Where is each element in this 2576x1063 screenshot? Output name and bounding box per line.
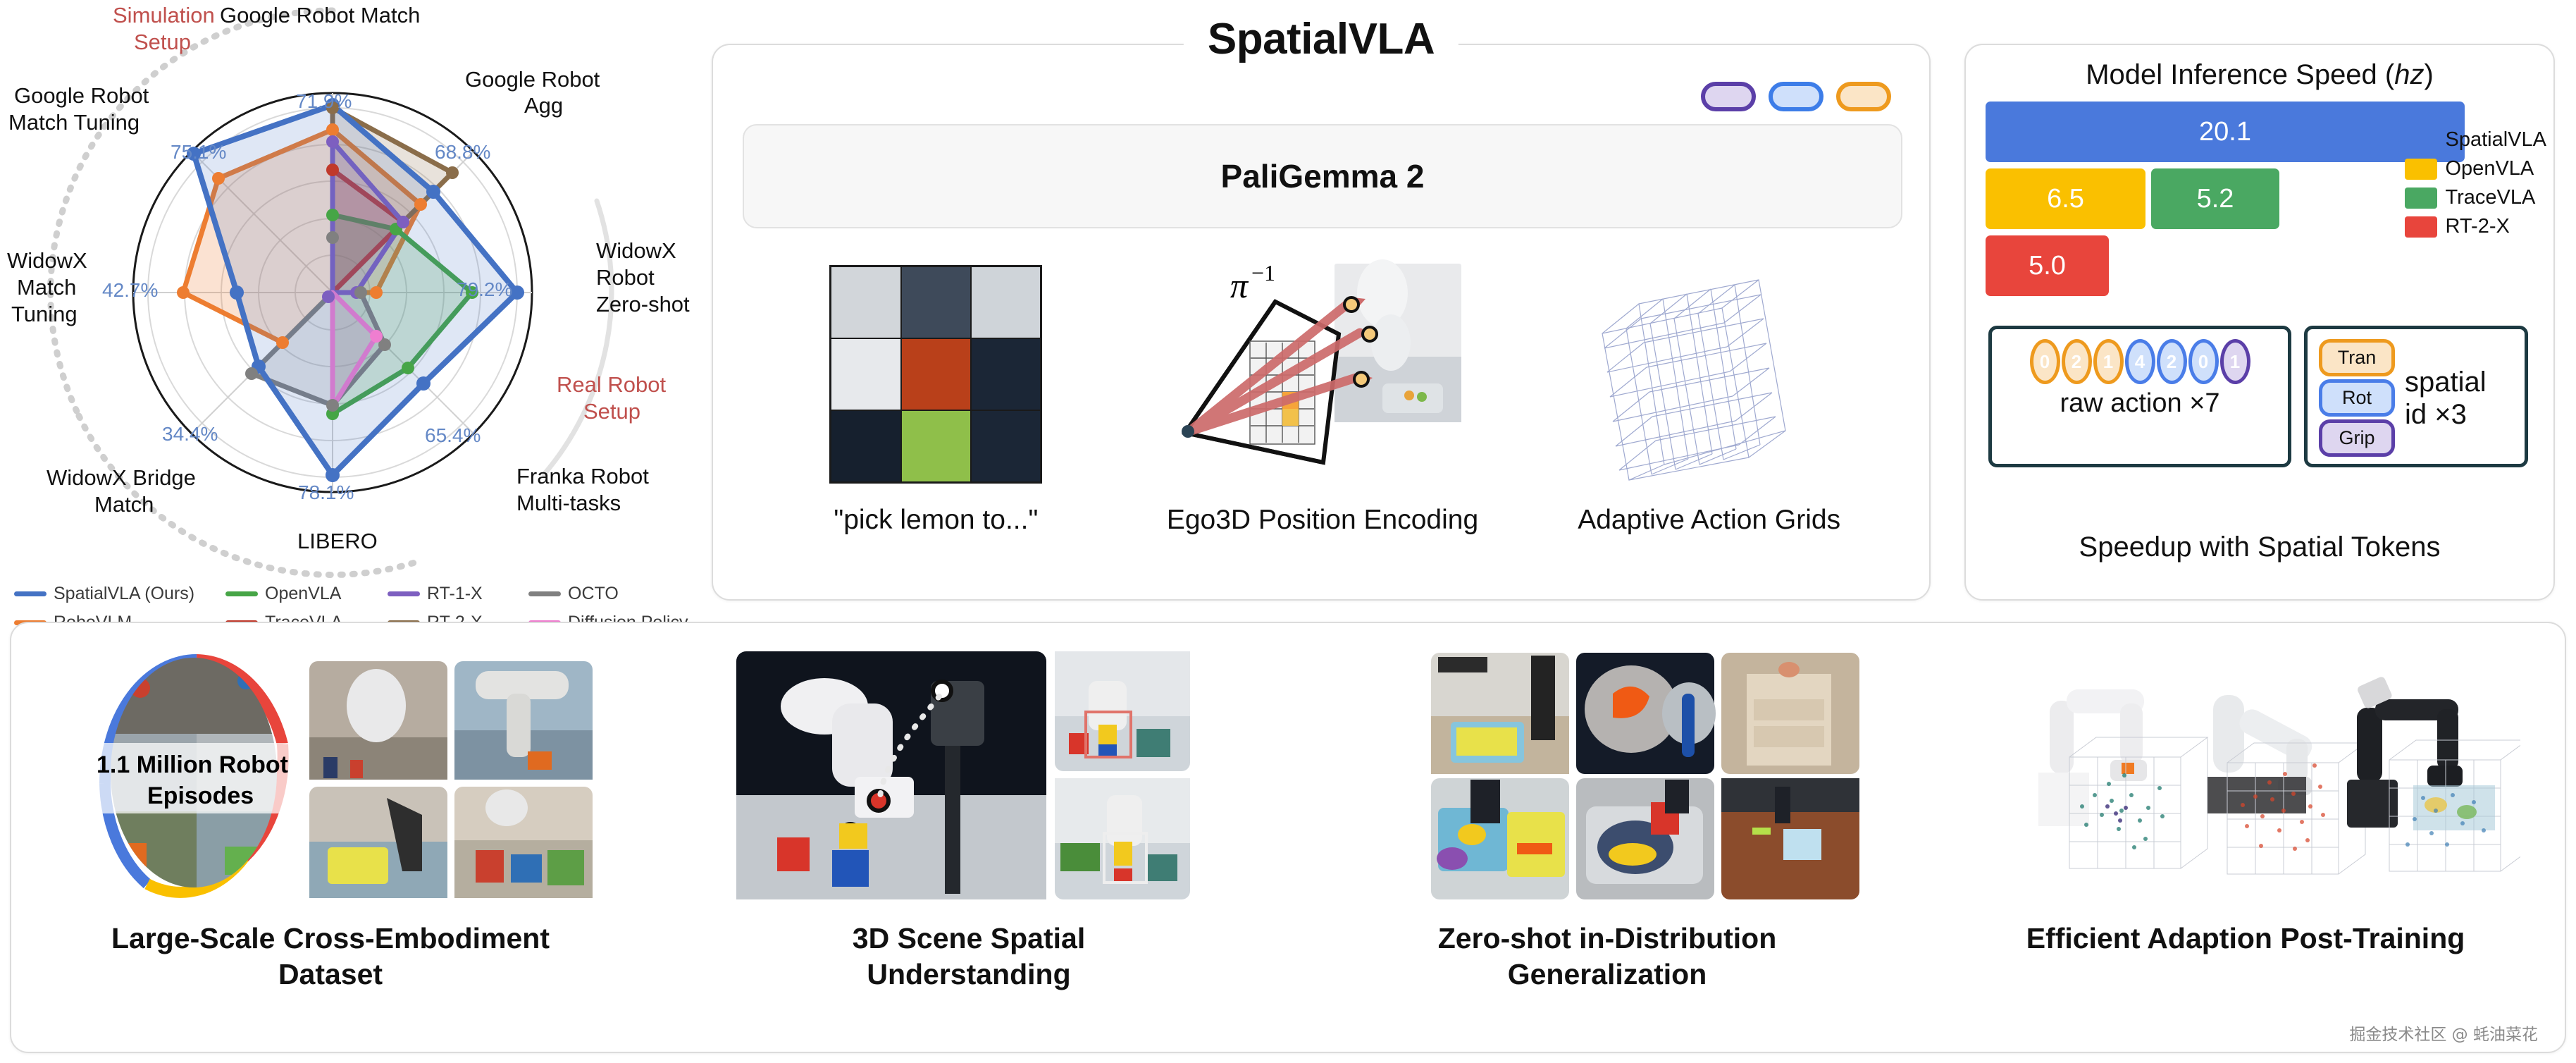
zero-shot-figure: [1332, 639, 1882, 921]
legend-swatch-icon: [2405, 216, 2437, 238]
spatial-chip-tran: Tran: [2319, 339, 2395, 376]
ego3d-caption: Ego3D Position Encoding: [1167, 505, 1478, 536]
raw-action-token-row: 0 2 1 4 2 0 1: [2003, 339, 2277, 384]
caption-line1: 3D Scene Spatial: [853, 921, 1085, 957]
bar-row-rt2x: 5.0: [1986, 235, 2537, 296]
raw-token: 1: [2220, 339, 2250, 384]
pi-exponent: −1: [1251, 260, 1275, 285]
radar-value-top-left: 75.1%: [171, 141, 226, 164]
adaption-figure: [1971, 639, 2520, 921]
highlights-grid: 1.1 Million Robot Episodes: [11, 623, 2565, 1052]
pipeline-column-action-grid: Adaptive Action Grids: [1516, 251, 1902, 575]
backbone-box: PaliGemma 2: [743, 124, 1902, 228]
radar-axis-label-widowx-bridge-line1: WidowX Bridge: [47, 465, 196, 491]
radar-axis-label-google-robot-agg-line1: Google Robot: [465, 67, 600, 92]
radar-axis-label-widowx-tuning-line1: WidowX: [7, 248, 87, 274]
pi-symbol: π: [1230, 266, 1249, 305]
bar-value-openvla: 6.5: [1986, 168, 2145, 229]
highlight-caption-3d-scene: 3D Scene Spatial Understanding: [853, 921, 1085, 993]
spatial-id-text-line2: id ×3: [2405, 398, 2487, 431]
raw-action-caption: raw action ×7: [2003, 388, 2277, 419]
caption-line1: Zero-shot in-Distribution: [1438, 921, 1777, 957]
legend-item-spatialvla[interactable]: SpatialVLA (Ours): [14, 584, 225, 604]
radar-value-top: 71.9%: [296, 90, 352, 113]
radar-axis-label-widowx-bridge-line2: Match: [94, 492, 154, 517]
token-comparison-group: 0 2 1 4 2 0 1 raw action ×7 Tran Rot: [1988, 326, 2528, 467]
raw-token: 1: [2093, 339, 2124, 384]
input-caption: "pick lemon to...": [834, 505, 1038, 536]
radar-value-bottom-left: 34.4%: [162, 423, 218, 446]
spatial-id-content: Tran Rot Grip spatial id ×3: [2319, 339, 2513, 457]
bar-legend-item-openvla[interactable]: OpenVLA: [2405, 157, 2547, 180]
bar-value-spatialvla: 20.1: [1986, 102, 2465, 162]
watermark: 掘金技术社区 @ 蚝油菜花: [2349, 1021, 2538, 1045]
bar-legend-label: RT-2-X: [2446, 215, 2510, 238]
gripper-token-pill-icon: [1836, 82, 1891, 111]
radar-axis-label-google-robot-match: Google Robot Match: [220, 3, 420, 28]
highlight-caption-adaption: Efficient Adaption Post-Training: [2026, 921, 2465, 957]
rotation-token-pill-icon: [1769, 82, 1823, 111]
legend-item-octo[interactable]: OCTO: [528, 584, 691, 604]
radar-axis-label-widowx-tuning-line3: Tuning: [11, 302, 78, 327]
raw-token: 4: [2125, 339, 2155, 384]
translation-token-pill-icon: [1701, 82, 1756, 111]
legend-swatch-icon: [2405, 130, 2437, 151]
spatial-id-text-line1: spatial: [2405, 366, 2487, 398]
radar-axis-label-widowx-tuning-line2: Match: [17, 275, 76, 300]
bar-legend-label: TraceVLA: [2446, 186, 2536, 209]
highlight-column-dataset: 1.1 Million Robot Episodes: [11, 623, 650, 1052]
inference-speed-panel: Model Inference Speed (hz) 20.1 6.5 5.2 …: [1964, 44, 2555, 601]
bar-legend-item-spatialvla[interactable]: SpatialVLA: [2405, 128, 2547, 152]
action-grid-figure: [1597, 251, 1822, 498]
caption-line2: Dataset: [111, 957, 550, 993]
radar-chart-panel: 71.9% 68.8% 79.2% 65.4% 78.1% 34.4% 42.7…: [0, 0, 712, 649]
bar-legend-label: SpatialVLA: [2446, 128, 2547, 152]
raw-token: 0: [2030, 339, 2060, 384]
3d-scene-collage-icon: [694, 639, 1244, 921]
image-mosaic-icon: [829, 265, 1042, 484]
spatial-chip-grip: Grip: [2319, 419, 2395, 457]
highlight-column-adaption: Efficient Adaption Post-Training: [1926, 623, 2565, 1052]
architecture-panel: SpatialVLA PaliGemma 2: [712, 44, 1931, 601]
legend-label: SpatialVLA (Ours): [54, 584, 194, 604]
radar-axis-label-franka-line2: Multi-tasks: [516, 491, 621, 516]
radar-value-left: 42.7%: [102, 279, 158, 302]
dataset-figure: 1.1 Million Robot Episodes: [56, 639, 605, 921]
projection-frustum-icon: π −1: [1171, 251, 1474, 498]
pipeline-column-input: "pick lemon to...": [743, 251, 1129, 575]
token-pill-group: [1701, 82, 1891, 111]
speed-bar-legend: SpatialVLA OpenVLA TraceVLA RT-2-X: [2405, 128, 2547, 244]
3d-grid-icon: [1597, 254, 1822, 494]
zero-shot-collage-icon: [1332, 639, 1882, 921]
raw-token: 2: [2157, 339, 2187, 384]
spatial-chip-rot: Rot: [2319, 379, 2395, 417]
bar-legend-item-rt2x[interactable]: RT-2-X: [2405, 215, 2547, 238]
action-grid-caption: Adaptive Action Grids: [1578, 505, 1840, 536]
radar-value-right: 79.2%: [457, 278, 512, 301]
pipeline-column-ego3d: π −1 Ego3D Position Encoding: [1129, 251, 1516, 575]
speedup-caption: Speedup with Spatial Tokens: [1966, 531, 2553, 563]
input-image-thumb: [829, 251, 1042, 498]
radar-annotation-real-line2: Setup: [583, 399, 640, 424]
raw-action-box: 0 2 1 4 2 0 1 raw action ×7: [1988, 326, 2291, 467]
radar-axis-label-libero: LIBERO: [297, 529, 378, 554]
radar-axis-label-widowx-zeroshot-line1: WidowX: [596, 238, 676, 264]
highlight-caption-zero-shot: Zero-shot in-Distribution Generalization: [1438, 921, 1777, 993]
legend-label: OCTO: [568, 584, 619, 604]
radar-axis-label-google-tuning-line2: Match Tuning: [8, 110, 140, 135]
backbone-label: PaliGemma 2: [1221, 157, 1425, 195]
radar-axis-label-widowx-zeroshot-line3: Zero-shot: [596, 292, 690, 317]
raw-token: 2: [2062, 339, 2092, 384]
legend-swatch-icon: [2405, 159, 2437, 180]
bar-value-tracevla: 5.2: [2151, 168, 2279, 229]
page-title: SpatialVLA: [1184, 14, 1459, 64]
radar-axis-label-widowx-zeroshot-line2: Robot: [596, 265, 655, 290]
highlight-caption-dataset: Large-Scale Cross-Embodiment Dataset: [111, 921, 550, 993]
legend-item-openvla[interactable]: OpenVLA: [225, 584, 388, 604]
radar-annotation-real-line1: Real Robot: [557, 372, 666, 398]
speed-title-main: Model Inference Speed (: [2086, 59, 2394, 90]
radar-value-bottom: 78.1%: [298, 481, 354, 504]
spatial-id-chip-column: Tran Rot Grip: [2319, 339, 2395, 457]
dataset-badge-line2: Episodes: [147, 782, 254, 809]
spatial-id-box: Tran Rot Grip spatial id ×3: [2304, 326, 2528, 467]
radar-value-bottom-right: 65.4%: [425, 424, 481, 447]
legend-swatch-icon: [528, 591, 561, 596]
radar-axis-label-google-tuning-line1: Google Robot: [14, 83, 149, 109]
legend-swatch-icon: [14, 591, 47, 596]
legend-swatch-icon: [388, 591, 420, 596]
speed-title-unit: hz: [2394, 59, 2424, 90]
legend-label: OpenVLA: [265, 584, 341, 604]
caption-line1: Large-Scale Cross-Embodiment: [111, 921, 550, 957]
radar-axis-label-google-robot-agg-line2: Agg: [524, 93, 563, 118]
radar-value-top-right: 68.8%: [435, 141, 490, 164]
scene-figure: [694, 639, 1244, 921]
speed-title-end: ): [2424, 59, 2433, 90]
highlights-panel: 1.1 Million Robot Episodes: [10, 622, 2566, 1053]
bar-legend-label: OpenVLA: [2446, 157, 2534, 180]
caption-line1: Efficient Adaption Post-Training: [2026, 921, 2465, 957]
caption-line2: Understanding: [853, 957, 1085, 993]
radar-axis-label-franka-line1: Franka Robot: [516, 464, 649, 489]
bar-legend-item-tracevla[interactable]: TraceVLA: [2405, 186, 2547, 209]
dataset-badge-line1: 1.1 Million Robot: [97, 751, 288, 778]
legend-swatch-icon: [2405, 188, 2437, 209]
top-row: 71.9% 68.8% 79.2% 65.4% 78.1% 34.4% 42.7…: [0, 0, 2576, 649]
speed-chart-title: Model Inference Speed (hz): [1966, 59, 2553, 91]
highlight-column-zero-shot: Zero-shot in-Distribution Generalization: [1288, 623, 1926, 1052]
ego3d-figure: π −1: [1171, 251, 1474, 498]
radar-annotation-simulation-line2: Setup: [134, 30, 191, 55]
legend-item-rt1x[interactable]: RT-1-X: [388, 584, 528, 604]
point-cloud-arms-icon: [1971, 639, 2520, 921]
spatial-id-text: spatial id ×3: [2405, 366, 2487, 431]
dataset-collage-icon: 1.1 Million Robot Episodes: [56, 639, 605, 921]
poster-root: 71.9% 68.8% 79.2% 65.4% 78.1% 34.4% 42.7…: [0, 0, 2576, 1063]
caption-line2: Generalization: [1438, 957, 1777, 993]
highlight-column-3d-scene: 3D Scene Spatial Understanding: [650, 623, 1288, 1052]
raw-token: 0: [2188, 339, 2219, 384]
bar-value-rt2x: 5.0: [1986, 235, 2109, 296]
pipeline-columns: "pick lemon to...": [743, 251, 1902, 575]
legend-label: RT-1-X: [427, 584, 483, 604]
radar-annotation-simulation-line1: Simulation: [113, 3, 215, 28]
legend-swatch-icon: [225, 591, 258, 596]
